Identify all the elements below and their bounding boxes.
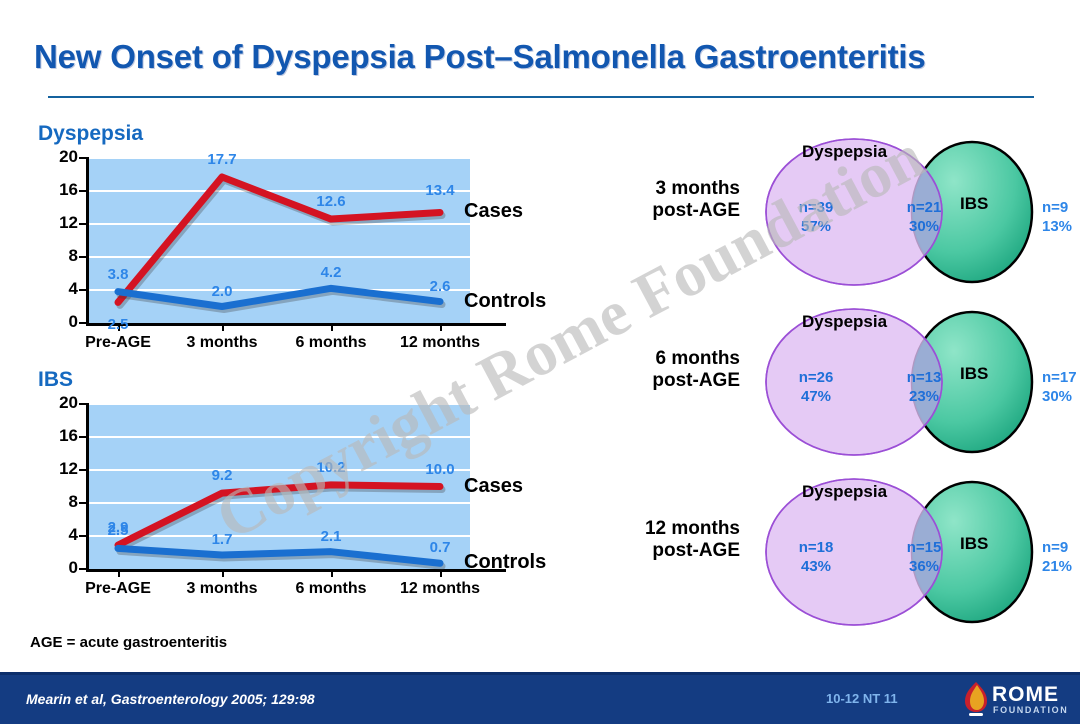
y-axis-tick-mark	[79, 568, 87, 570]
y-axis-tick-label: 20	[38, 393, 78, 413]
data-point-label: 10.2	[316, 459, 345, 476]
y-axis-tick-mark	[79, 469, 87, 471]
venn-diagram-3-months: 3 monthspost-AGEDyspepsiaIBSn=3957%n=213…	[612, 136, 1080, 291]
footer-citation: Mearin et al, Gastroenterology 2005; 129…	[26, 691, 315, 707]
y-axis-tick-mark	[79, 403, 87, 405]
y-axis-tick-label: 0	[38, 312, 78, 332]
y-axis-tick-label: 20	[38, 147, 78, 167]
y-axis-tick-label: 0	[38, 558, 78, 578]
x-axis-tick-mark	[331, 324, 333, 331]
x-axis-tick-mark	[331, 570, 333, 577]
logo-text-foundation: FOUNDATION	[993, 705, 1068, 715]
venn-value-overlap: n=1536%	[907, 538, 942, 576]
y-axis-tick-mark	[79, 289, 87, 291]
page-title: New Onset of Dyspepsia Post–Salmonella G…	[34, 38, 1054, 76]
x-axis-tick-label: Pre-AGE	[85, 334, 151, 352]
x-axis-tick-mark	[222, 570, 224, 577]
venn-value-dyspepsia-only: n=1843%	[799, 538, 834, 576]
x-axis-tick-label: 3 months	[186, 334, 257, 352]
venn-caption-line1: 12 months	[612, 518, 740, 540]
data-point-label: 2.5	[108, 316, 129, 333]
x-axis	[86, 323, 506, 326]
x-axis-tick-mark	[222, 324, 224, 331]
data-point-label: 2.0	[212, 283, 233, 300]
logo-text-rome: ROME	[992, 683, 1059, 707]
x-axis-tick-label: Pre-AGE	[85, 580, 151, 598]
y-axis-tick-mark	[79, 322, 87, 324]
venn-caption-line2: post-AGE	[612, 370, 740, 392]
venn-shapes	[744, 476, 1044, 628]
series-label-cases: Cases	[464, 475, 523, 498]
venn-diagram-12-months: 12 monthspost-AGEDyspepsiaIBSn=1843%n=15…	[612, 476, 1080, 631]
flame-icon	[962, 681, 990, 717]
venn-label-ibs: IBS	[960, 364, 988, 384]
y-axis-tick-label: 16	[38, 180, 78, 200]
data-point-label: 12.6	[316, 193, 345, 210]
y-axis-tick-label: 16	[38, 426, 78, 446]
data-point-label: 2.5	[108, 522, 129, 539]
venn-value-ibs-only: n=921%	[1042, 538, 1072, 576]
data-point-label: 17.7	[207, 151, 236, 168]
venn-shapes	[744, 136, 1044, 288]
venn-value-dyspepsia-only: n=2647%	[799, 368, 834, 406]
series-label-controls: Controls	[464, 290, 546, 313]
venn-label-dyspepsia: Dyspepsia	[802, 142, 887, 162]
venn-caption: 12 monthspost-AGE	[612, 518, 740, 562]
venn-value-ibs-only: n=913%	[1042, 198, 1072, 236]
x-axis-tick-mark	[440, 324, 442, 331]
venn-label-dyspepsia: Dyspepsia	[802, 312, 887, 332]
venn-label-dyspepsia: Dyspepsia	[802, 482, 887, 502]
y-axis-tick-label: 4	[38, 525, 78, 545]
data-point-label: 4.2	[321, 264, 342, 281]
data-point-label: 3.8	[108, 266, 129, 283]
footnote-age-definition: AGE = acute gastroenteritis	[30, 634, 227, 651]
x-axis-tick-label: 3 months	[186, 580, 257, 598]
venn-diagram-6-months: 6 monthspost-AGEDyspepsiaIBSn=2647%n=132…	[612, 306, 1080, 461]
venn-shapes	[744, 306, 1044, 458]
y-axis-tick-label: 4	[38, 279, 78, 299]
chart-title-ibs: IBS	[38, 368, 73, 392]
x-axis-tick-label: 12 months	[400, 580, 480, 598]
y-axis-tick-mark	[79, 223, 87, 225]
chart-title-dyspepsia: Dyspepsia	[38, 122, 143, 146]
data-point-label: 0.7	[430, 539, 451, 556]
x-axis-tick-mark	[440, 570, 442, 577]
footer-slide-code: 10-12 NT 11	[826, 691, 898, 706]
y-axis-tick-label: 12	[38, 459, 78, 479]
venn-label-ibs: IBS	[960, 534, 988, 554]
x-axis-tick-label: 6 months	[295, 334, 366, 352]
y-axis-tick-label: 12	[38, 213, 78, 233]
series-line-cases	[118, 177, 440, 302]
data-point-label: 9.2	[212, 467, 233, 484]
y-axis-tick-label: 8	[38, 246, 78, 266]
venn-value-overlap: n=1323%	[907, 368, 942, 406]
venn-caption-line2: post-AGE	[612, 200, 740, 222]
series-lines	[88, 404, 470, 569]
footer-bar: Mearin et al, Gastroenterology 2005; 129…	[0, 672, 1080, 724]
y-axis-tick-mark	[79, 436, 87, 438]
y-axis-tick-mark	[79, 502, 87, 504]
y-axis-tick-mark	[79, 157, 87, 159]
rome-foundation-logo: ROME FOUNDATION	[962, 681, 1074, 719]
x-axis-tick-label: 6 months	[295, 580, 366, 598]
y-axis-tick-mark	[79, 535, 87, 537]
data-point-label: 1.7	[212, 531, 233, 548]
venn-caption-line1: 6 months	[612, 348, 740, 370]
data-point-label: 13.4	[425, 182, 454, 199]
data-point-label: 2.6	[430, 278, 451, 295]
y-axis-tick-mark	[79, 190, 87, 192]
venn-value-ibs-only: n=1730%	[1042, 368, 1077, 406]
venn-label-ibs: IBS	[960, 194, 988, 214]
y-axis-tick-mark	[79, 256, 87, 258]
x-axis-tick-mark	[118, 570, 120, 577]
data-point-label: 10.0	[425, 461, 454, 478]
venn-caption-line1: 3 months	[612, 178, 740, 200]
venn-caption: 6 monthspost-AGE	[612, 348, 740, 392]
y-axis-tick-label: 8	[38, 492, 78, 512]
venn-value-dyspepsia-only: n=3957%	[799, 198, 834, 236]
title-divider	[48, 96, 1034, 98]
series-label-cases: Cases	[464, 200, 523, 223]
venn-caption: 3 monthspost-AGE	[612, 178, 740, 222]
series-label-controls: Controls	[464, 551, 546, 574]
venn-value-overlap: n=2130%	[907, 198, 942, 236]
venn-caption-line2: post-AGE	[612, 540, 740, 562]
data-point-label: 2.1	[321, 528, 342, 545]
x-axis-tick-label: 12 months	[400, 334, 480, 352]
series-lines	[88, 158, 470, 323]
